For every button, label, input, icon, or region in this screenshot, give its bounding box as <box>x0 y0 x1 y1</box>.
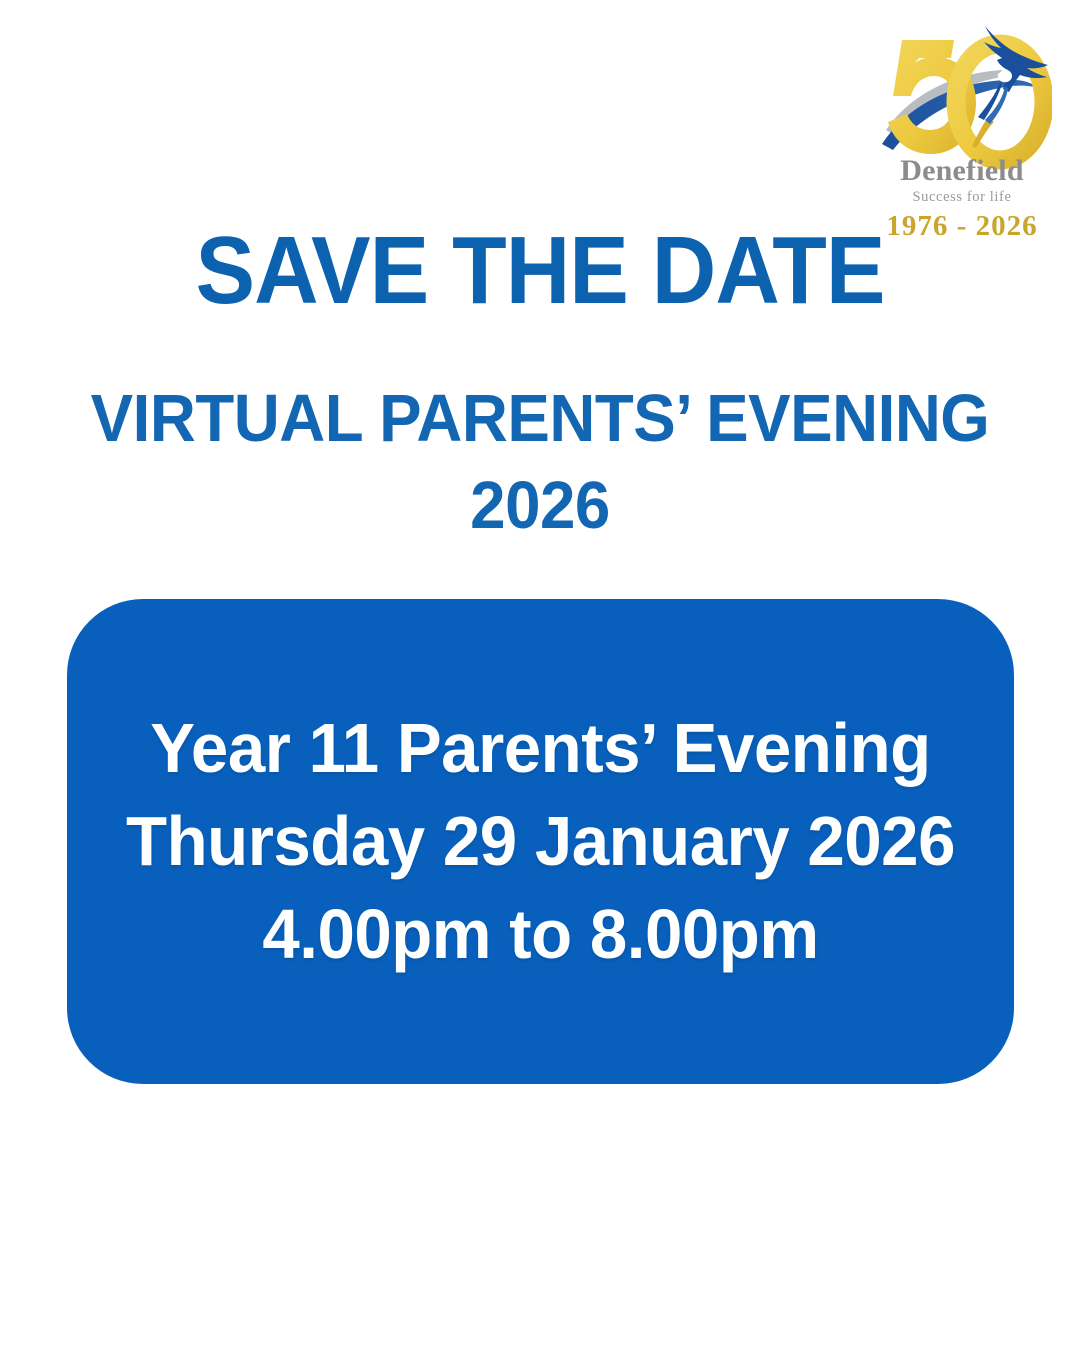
school-tagline: Success for life <box>872 190 1052 205</box>
subtitle-line-1: VIRTUAL PARENTS’ EVENING <box>27 375 1053 462</box>
page-subtitle: VIRTUAL PARENTS’ EVENING 2026 <box>27 375 1053 549</box>
save-the-date-poster: Denefield Success for life 1976 - 2026 S… <box>0 0 1080 1350</box>
denefield-logo: Denefield Success for life 1976 - 2026 <box>872 18 1052 228</box>
event-date: Thursday 29 January 2026 <box>86 795 995 888</box>
subtitle-line-2: 2026 <box>27 462 1053 549</box>
event-details-card: Year 11 Parents’ Evening Thursday 29 Jan… <box>67 599 1014 1084</box>
page-title: SAVE THE DATE <box>38 222 1042 320</box>
school-name: Denefield <box>872 156 1052 186</box>
event-name: Year 11 Parents’ Evening <box>86 702 995 795</box>
event-time: 4.00pm to 8.00pm <box>86 888 995 981</box>
event-details-text: Year 11 Parents’ Evening Thursday 29 Jan… <box>86 702 995 981</box>
